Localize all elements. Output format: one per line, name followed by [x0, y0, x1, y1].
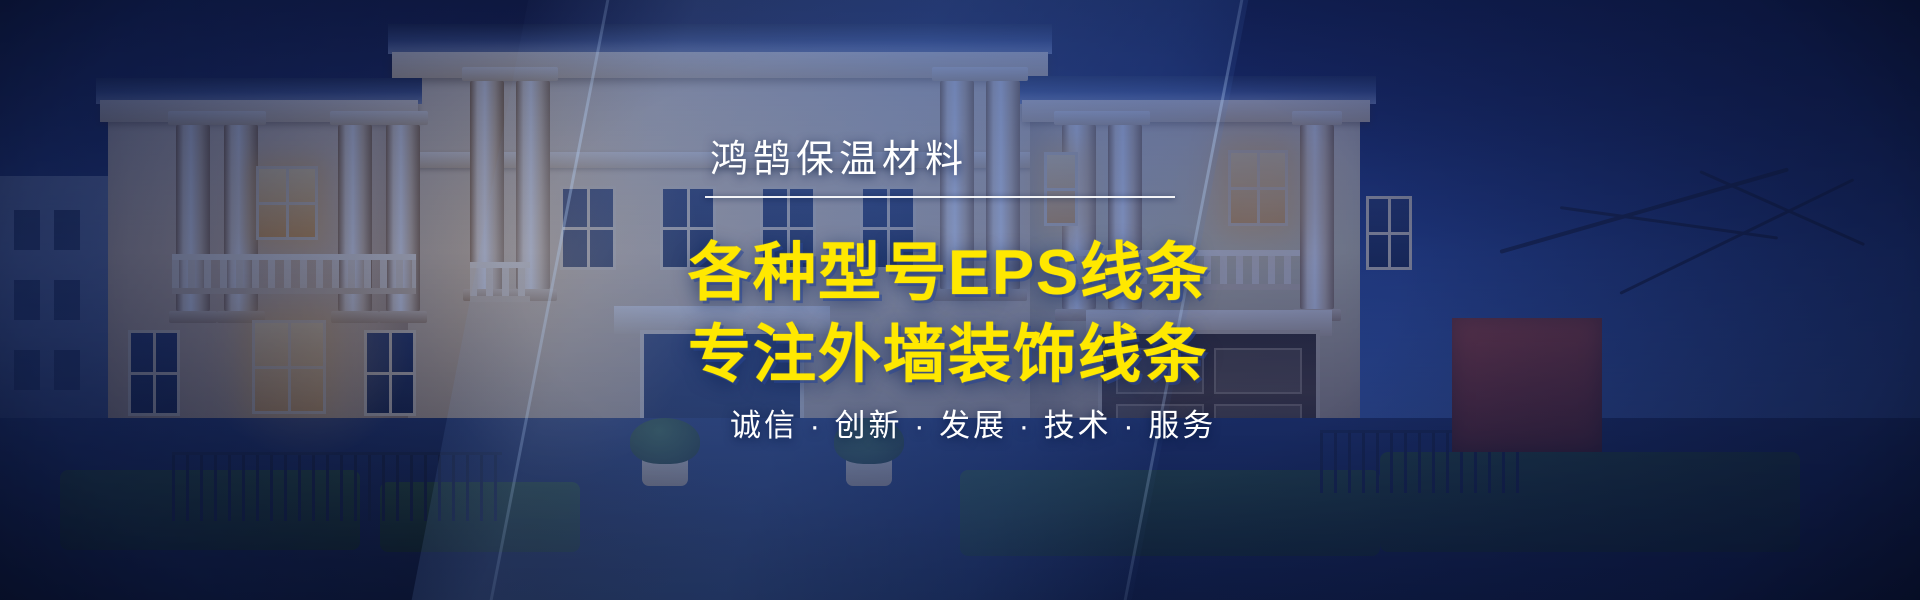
vignette-overlay — [0, 0, 1920, 600]
hero-banner: 鸿鹄保温材料 各种型号EPS线条 专注外墙装饰线条 诚信 · 创新 · 发展 ·… — [0, 0, 1920, 600]
background-photo — [0, 0, 1920, 600]
